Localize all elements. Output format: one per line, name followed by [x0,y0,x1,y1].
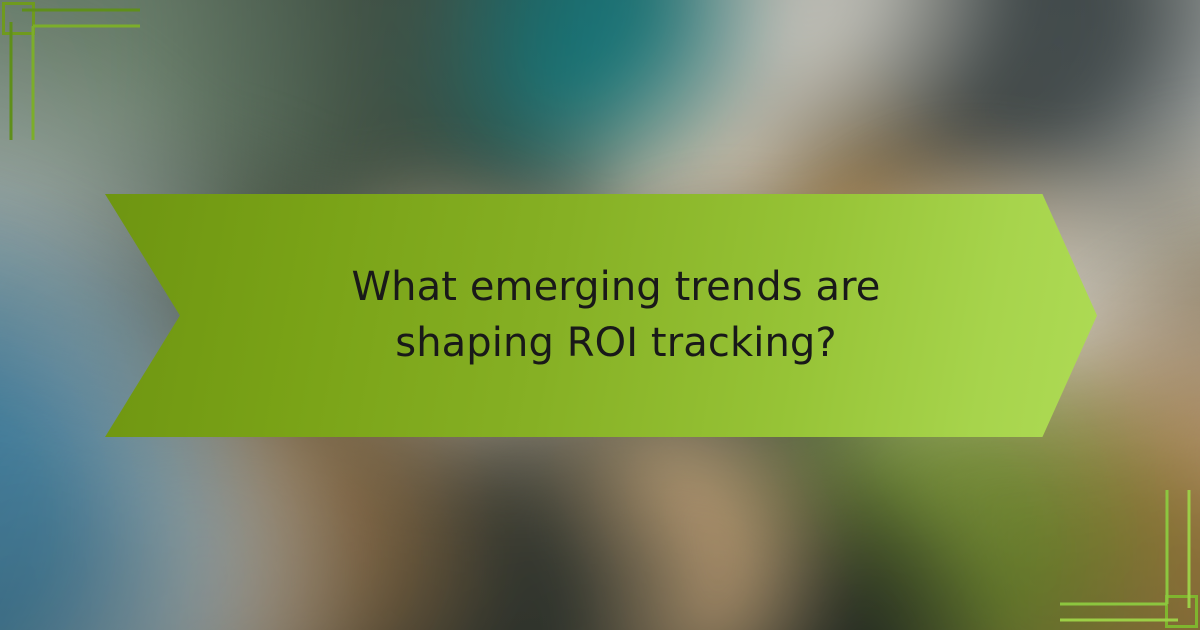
page-title: What emerging trends are shaping ROI tra… [321,260,911,370]
headline-banner: What emerging trends are shaping ROI tra… [105,194,1097,437]
banner-canvas: What emerging trends are shaping ROI tra… [0,0,1200,630]
headline-banner-inner: What emerging trends are shaping ROI tra… [251,260,951,370]
